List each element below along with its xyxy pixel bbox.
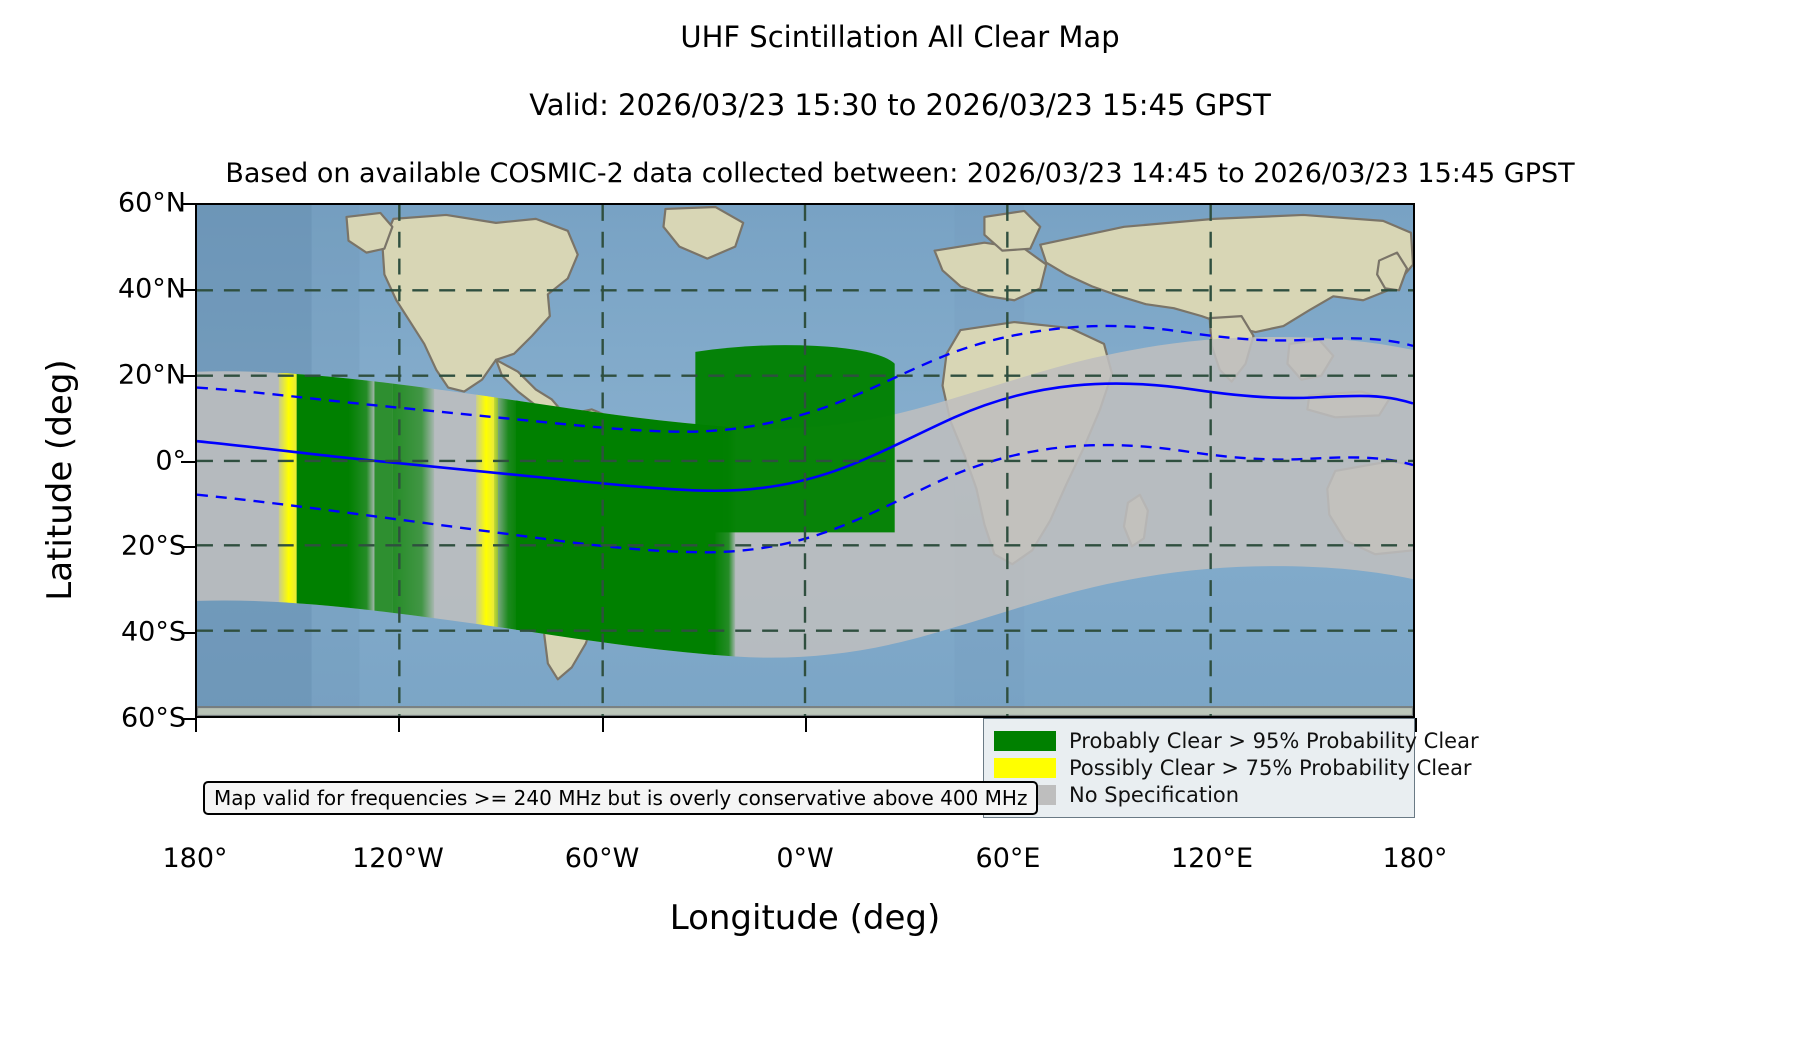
xtick-label-180e: 180° [1315, 843, 1515, 874]
ytick-mark-60s [181, 718, 195, 720]
legend-item-no-specification: No Specification [994, 782, 1402, 808]
xtick-mark-180w [195, 718, 197, 732]
xtick-label-120e: 120°E [1112, 843, 1312, 874]
legend-swatch-probably-clear [994, 731, 1056, 751]
ytick-label-20s: 20°S [66, 531, 186, 562]
xtick-label-0: 0°W [705, 843, 905, 874]
ytick-mark-60n [181, 203, 195, 205]
legend-item-probably-clear: Probably Clear > 95% Probability Clear [994, 728, 1402, 754]
legend-label-no-specification: No Specification [1069, 783, 1239, 807]
xtick-mark-60w [602, 718, 604, 732]
ytick-mark-20n [181, 375, 195, 377]
ytick-label-20n: 20°N [66, 360, 186, 391]
frequency-validity-annotation: Map valid for frequencies >= 240 MHz but… [203, 781, 1038, 815]
ytick-label-60s: 60°S [66, 703, 186, 734]
legend-swatch-possibly-clear [994, 758, 1056, 778]
valid-time-subtitle: Valid: 2026/03/23 15:30 to 2026/03/23 15… [0, 88, 1800, 122]
data-source-subtitle: Based on available COSMIC-2 data collect… [0, 158, 1800, 189]
xtick-mark-120w [398, 718, 400, 732]
map-legend[interactable]: Probably Clear > 95% Probability Clear P… [983, 718, 1415, 818]
xtick-label-180w: 180° [95, 843, 295, 874]
ytick-label-40s: 40°S [66, 617, 186, 648]
map-plot-area[interactable] [195, 203, 1415, 718]
figure-canvas: UHF Scintillation All Clear Map Valid: 2… [0, 0, 1800, 1050]
xtick-mark-0 [805, 718, 807, 732]
ytick-mark-40n [181, 289, 195, 291]
ytick-mark-20s [181, 546, 195, 548]
ytick-mark-0 [181, 461, 195, 463]
ytick-mark-40s [181, 632, 195, 634]
xtick-label-120w: 120°W [298, 843, 498, 874]
xtick-label-60w: 60°W [502, 843, 702, 874]
ytick-label-60n: 60°N [66, 188, 186, 219]
probably-clear-region-atlantic [695, 345, 894, 532]
x-axis-title: Longitude (deg) [195, 898, 1415, 938]
legend-label-possibly-clear: Possibly Clear > 75% Probability Clear [1069, 756, 1472, 780]
ytick-label-0: 0° [66, 446, 186, 477]
xtick-label-60e: 60°E [908, 843, 1108, 874]
page-title: UHF Scintillation All Clear Map [0, 20, 1800, 54]
legend-item-possibly-clear: Possibly Clear > 75% Probability Clear [994, 755, 1402, 781]
legend-label-probably-clear: Probably Clear > 95% Probability Clear [1069, 729, 1479, 753]
ytick-label-40n: 40°N [66, 274, 186, 305]
map-basemap-layer [197, 205, 1413, 716]
y-axis-title: Latitude (deg) [40, 220, 80, 740]
